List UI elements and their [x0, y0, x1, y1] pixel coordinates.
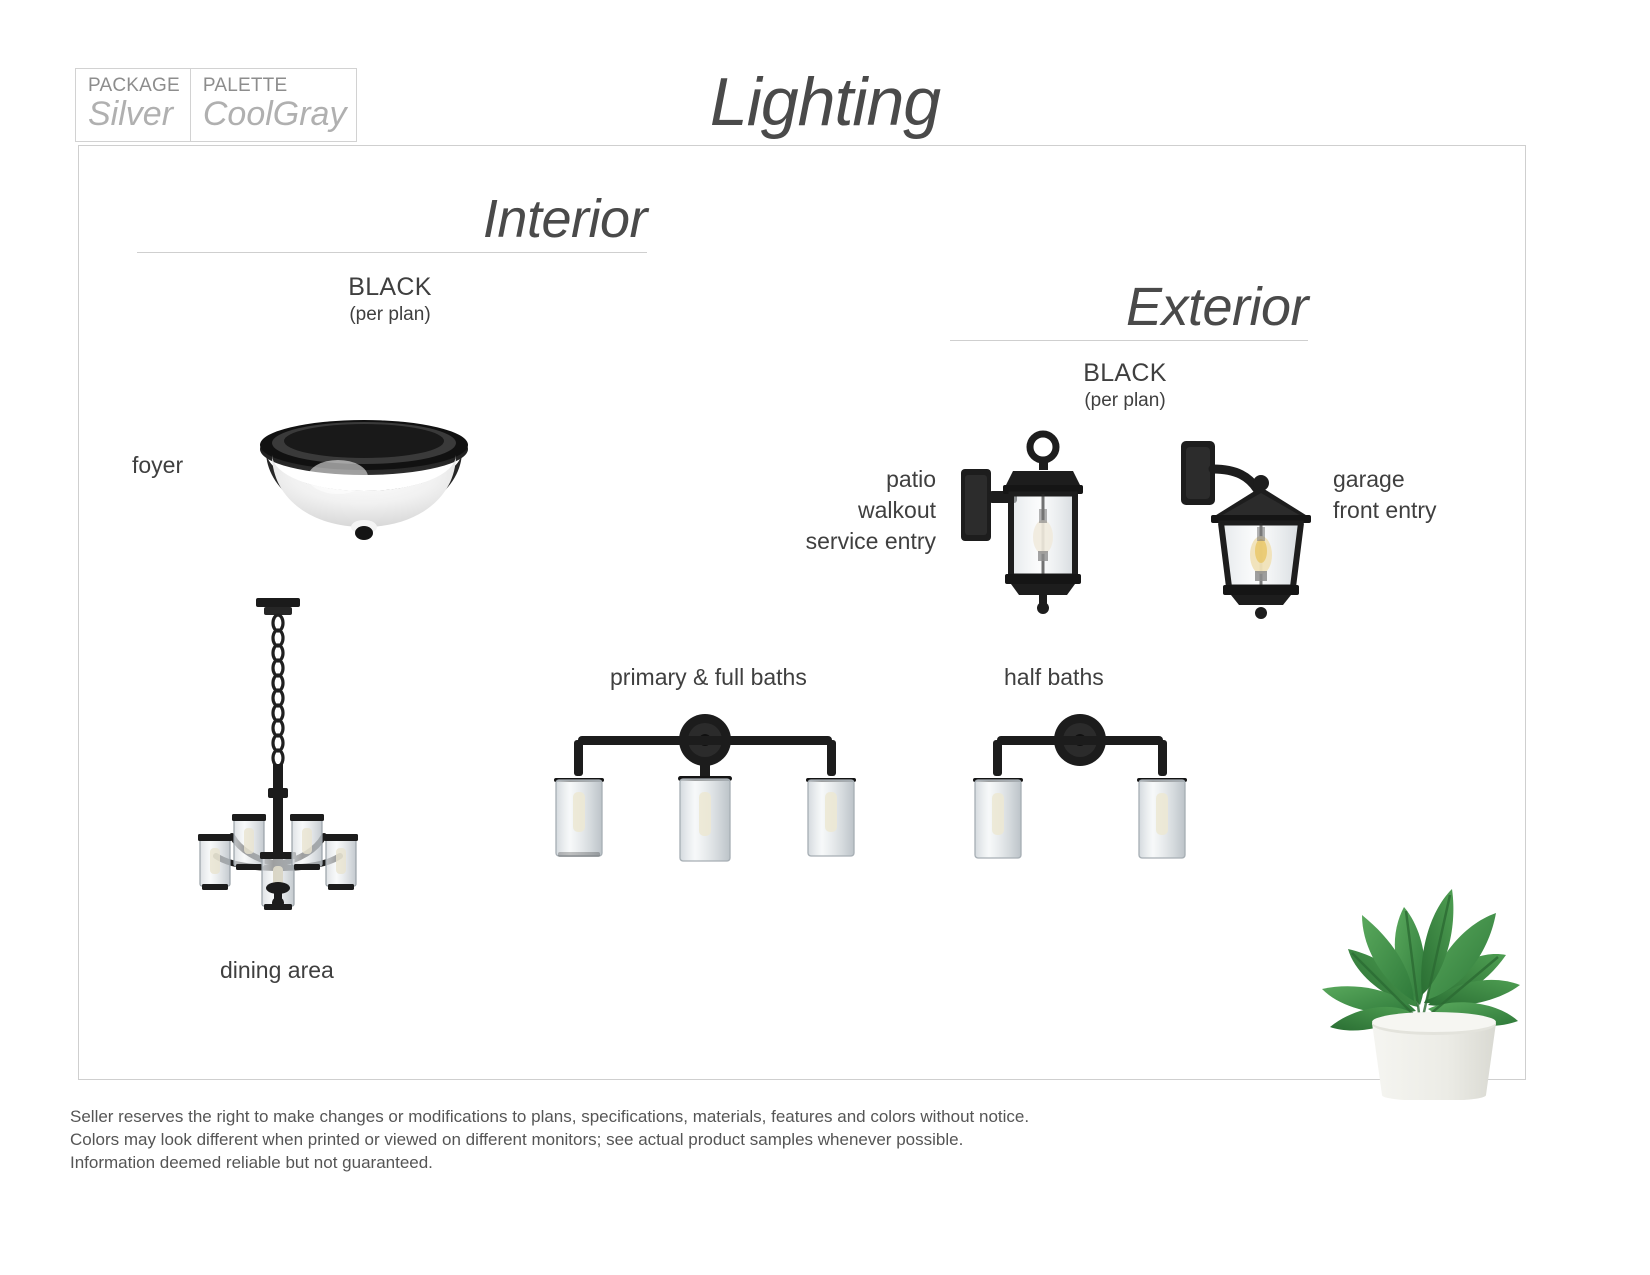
caption-patio-walkout-service-entry: patio walkout service entry — [790, 464, 936, 557]
flush-mount-ceiling-light-image — [258, 415, 470, 545]
peaked-wall-lantern-image — [1175, 425, 1335, 635]
interior-section-heading: Interior — [137, 188, 647, 253]
caption-garage-front-entry: garage front entry — [1333, 464, 1533, 526]
caption-foyer: foyer — [132, 450, 183, 481]
disclaimer-line-3: Information deemed reliable but not guar… — [70, 1151, 1170, 1174]
disclaimer: Seller reserves the right to make change… — [70, 1105, 1170, 1174]
page-title: Lighting — [0, 63, 1650, 141]
exterior-rule — [950, 340, 1308, 341]
disclaimer-line-1: Seller reserves the right to make change… — [70, 1105, 1170, 1128]
caption-primary-full-baths: primary & full baths — [610, 662, 807, 693]
interior-rule — [137, 252, 647, 253]
exterior-note: (per plan) — [960, 388, 1290, 414]
interior-note: (per plan) — [225, 302, 555, 328]
interior-material: BLACK — [225, 272, 555, 302]
caption-dining-area: dining area — [220, 955, 334, 986]
square-wall-lantern-image — [955, 425, 1115, 635]
exterior-material: BLACK — [960, 358, 1290, 388]
five-light-chandelier-image — [178, 592, 378, 942]
interior-subheading: BLACK (per plan) — [225, 272, 555, 328]
potted-plant-decoration — [1300, 845, 1550, 1100]
disclaimer-line-2: Colors may look different when printed o… — [70, 1128, 1170, 1151]
caption-half-baths: half baths — [1004, 662, 1104, 693]
interior-title: Interior — [137, 188, 647, 250]
three-light-vanity-image — [520, 700, 890, 865]
two-light-vanity-image — [955, 700, 1205, 865]
exterior-subheading: BLACK (per plan) — [960, 358, 1290, 414]
exterior-section-heading: Exterior — [950, 276, 1308, 341]
exterior-title: Exterior — [950, 276, 1308, 338]
